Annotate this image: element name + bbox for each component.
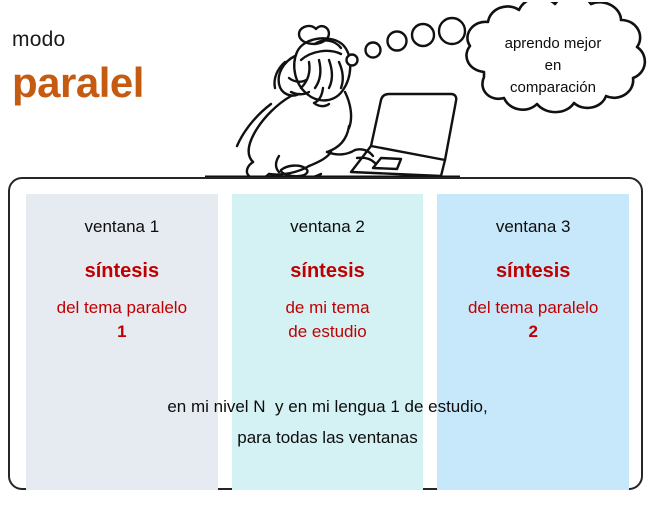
window-column-1-content: ventana 1 síntesis del tema paralelo 1 <box>26 194 218 343</box>
window-3-heading: síntesis <box>437 259 629 283</box>
thought-bubble-line-3: comparación <box>478 77 628 99</box>
window-2-detail-line-2: de estudio <box>232 320 424 343</box>
window-1-detail-line-1: del tema paralelo <box>26 296 218 319</box>
page-title: paralel <box>12 59 222 107</box>
parallel-mode-panel: ventana 1 síntesis del tema paralelo 1 v… <box>8 177 643 490</box>
window-1-label: ventana 1 <box>26 217 218 237</box>
window-column-2[interactable]: ventana 2 síntesis de mi tema de estudio <box>232 194 424 490</box>
window-3-detail: del tema paralelo 2 <box>437 296 629 343</box>
window-3-detail-line-2: 2 <box>437 320 629 343</box>
window-column-1[interactable]: ventana 1 síntesis del tema paralelo 1 <box>26 194 218 490</box>
window-3-detail-line-1: del tema paralelo <box>437 296 629 319</box>
window-2-heading: síntesis <box>232 259 424 283</box>
window-2-detail-line-1: de mi tema <box>232 296 424 319</box>
window-column-3-content: ventana 3 síntesis del tema paralelo 2 <box>437 194 629 343</box>
thought-bubble-line-1: aprendo mejor <box>478 33 628 55</box>
window-1-detail-line-2: 1 <box>26 320 218 343</box>
thought-bubble-text: aprendo mejor en comparación <box>478 33 628 100</box>
title-block: modo paralel <box>12 28 222 107</box>
window-1-detail: del tema paralelo 1 <box>26 296 218 343</box>
thought-bubble-line-2: en <box>478 55 628 77</box>
window-3-label: ventana 3 <box>437 217 629 237</box>
window-2-detail: de mi tema de estudio <box>232 296 424 343</box>
window-2-label: ventana 2 <box>232 217 424 237</box>
window-columns: ventana 1 síntesis del tema paralelo 1 v… <box>26 194 629 490</box>
header-area: modo paralel <box>0 0 657 178</box>
page-title-prefix: modo <box>12 28 222 51</box>
window-column-2-content: ventana 2 síntesis de mi tema de estudio <box>232 194 424 343</box>
window-column-3[interactable]: ventana 3 síntesis del tema paralelo 2 <box>437 194 629 490</box>
window-1-heading: síntesis <box>26 259 218 283</box>
